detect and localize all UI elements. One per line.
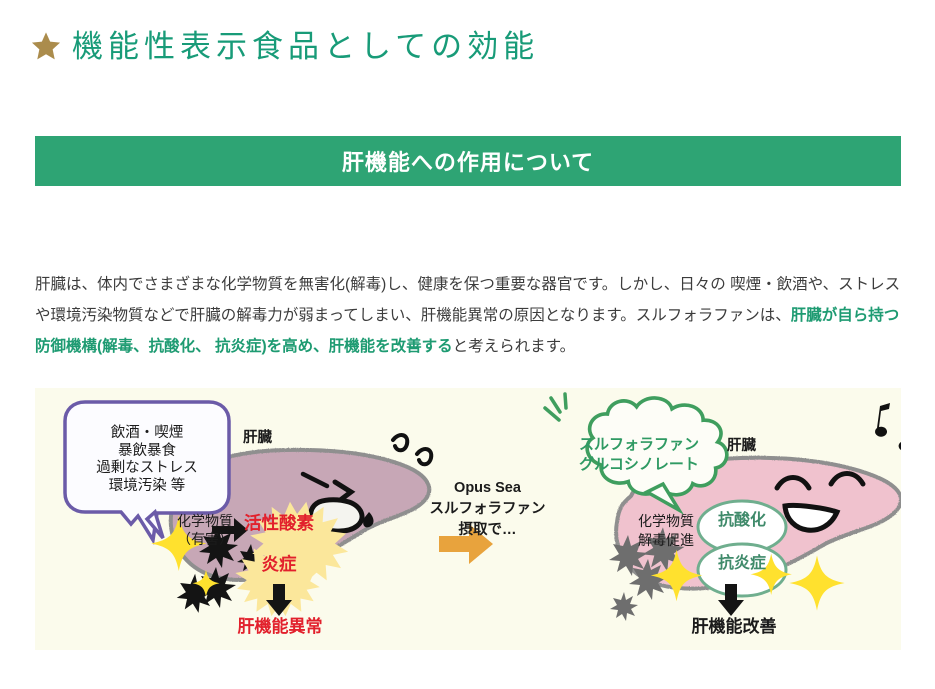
risk-factors-bubble-text: 飲酒・喫煙 暴飲暴食 過剰なストレス 環境汚染 等: [76, 425, 218, 496]
chem-right-line-1: 化学物質: [622, 512, 710, 531]
risk-factor-line-3: 過剰なストレス: [76, 460, 218, 478]
page-root: 機能性表示食品としての効能 肝機能への作用について 肝臓は、体内でさまざまな化学…: [0, 0, 935, 689]
section-banner-label: 肝機能への作用について: [342, 145, 594, 177]
sulforaphane-line-2: グルコシノレート: [557, 455, 721, 475]
music-note-icon: [875, 403, 901, 451]
sulforaphane-line-1: スルフォラファン: [557, 435, 721, 455]
star-icon: [31, 31, 61, 61]
liver-improvement-label: 肝機能改善: [673, 617, 795, 638]
liver-label-left: 肝臓: [243, 430, 272, 448]
paragraph-part-2: と考えられます。: [453, 338, 575, 355]
intake-line-1: Opus Sea: [420, 478, 555, 499]
risk-factor-line-1: 飲酒・喫煙: [76, 425, 218, 443]
page-title-text: 機能性表示食品としての効能: [72, 31, 539, 62]
section-banner: 肝機能への作用について: [35, 136, 901, 186]
risk-factor-line-4: 環境汚染 等: [76, 478, 218, 496]
body-paragraph: 肝臓は、体内でさまざまな化学物質を無害化(解毒)し、健康を保つ重要な器官です。し…: [35, 269, 904, 362]
liver-dysfunction-label: 肝機能異常: [221, 617, 339, 638]
intake-caption: Opus Sea スルフォラファン 摂取で…: [420, 478, 555, 541]
liver-function-diagram: 飲酒・喫煙 暴飲暴食 過剰なストレス 環境汚染 等 肝臓 化学物質 （有害） 活…: [35, 388, 901, 650]
liver-label-right: 肝臓: [727, 438, 756, 456]
intake-line-3: 摂取で…: [420, 520, 555, 541]
risk-factor-line-2: 暴飲暴食: [76, 443, 218, 461]
intake-line-2: スルフォラファン: [420, 499, 555, 520]
reactive-oxygen-label: 活性酸素: [233, 513, 325, 534]
page-title: 機能性表示食品としての効能: [31, 22, 539, 70]
antiinflammatory-label: 抗炎症: [703, 554, 781, 574]
sparkle-lines-green: [545, 394, 566, 420]
sulforaphane-bubble-text: スルフォラファン グルコシノレート: [557, 435, 721, 474]
detox-promotion-label: 化学物質 解毒促進: [622, 512, 710, 550]
chem-right-line-2: 解毒促進: [622, 531, 710, 550]
paragraph-part-1: 肝臓は、体内でさまざまな化学物質を無害化(解毒)し、健康を保つ重要な器官です。し…: [35, 276, 900, 324]
antioxidant-label: 抗酸化: [703, 511, 781, 531]
inflammation-label: 炎症: [241, 554, 317, 575]
